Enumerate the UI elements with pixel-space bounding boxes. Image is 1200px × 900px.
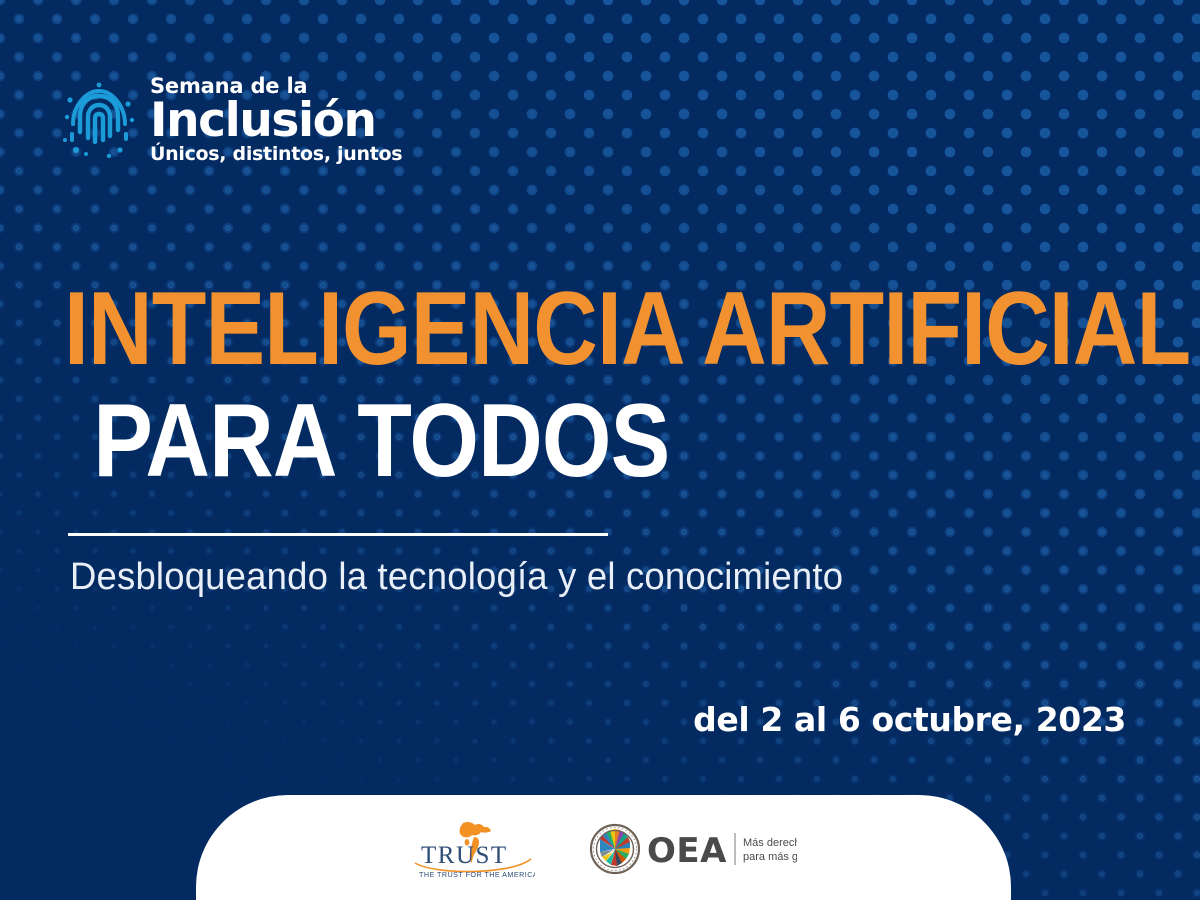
trust-logo: TRUST THE TRUST FOR THE AMERICAS <box>411 819 535 881</box>
svg-text:Más derechos: Más derechos <box>743 837 797 849</box>
footer-panel: TRUST THE TRUST FOR THE AMERICAS <box>196 795 1011 900</box>
subtitle: Desbloqueando la tecnología y el conocim… <box>70 556 843 599</box>
svg-text:para más gente: para más gente <box>743 851 797 863</box>
footer-logo-row: TRUST THE TRUST FOR THE AMERICAS <box>196 795 1011 900</box>
oas-seal-icon <box>591 825 639 873</box>
event-dates: del 2 al 6 octubre, 2023 <box>693 700 1126 739</box>
headline-line-1: INTELIGENCIA ARTIFICIAL <box>64 282 993 378</box>
promotional-poster: Semana de la Inclusión Únicos, distintos… <box>0 0 1200 900</box>
fingerprint-icon <box>62 80 136 160</box>
brand-text: Semana de la Inclusión Únicos, distintos… <box>150 76 402 164</box>
svg-text:THE TRUST FOR THE AMERICAS: THE TRUST FOR THE AMERICAS <box>419 870 535 879</box>
oea-logo: OEA Más derechos para más gente <box>589 822 797 878</box>
brand-tagline: Únicos, distintos, juntos <box>150 145 402 164</box>
headline-divider <box>68 533 608 536</box>
svg-text:TRUST: TRUST <box>421 842 508 869</box>
headline-line-2: PARA TODOS <box>64 394 993 490</box>
svg-text:OEA: OEA <box>647 831 727 871</box>
headline-block: INTELIGENCIA ARTIFICIAL PARA TODOS <box>64 282 1144 489</box>
brand-wordmark: Inclusión <box>150 97 402 144</box>
brand-lockup: Semana de la Inclusión Únicos, distintos… <box>62 76 402 164</box>
